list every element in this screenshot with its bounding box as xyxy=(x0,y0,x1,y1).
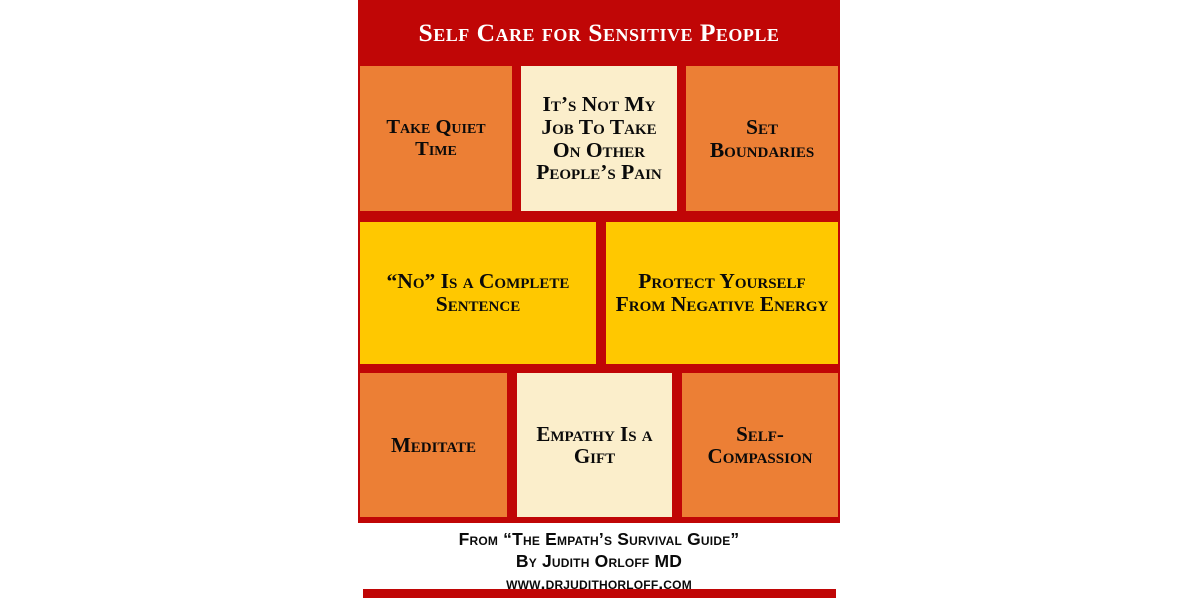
page-title: Self Care for Sensitive People xyxy=(419,20,780,46)
tip-card-self-compassion: Self-Compassion xyxy=(682,373,838,517)
footer-source-line: From “The Empath’s Survival Guide” xyxy=(459,528,740,550)
infographic-poster: Self Care for Sensitive People Take Quie… xyxy=(358,0,840,523)
tip-row-2: “No” Is a Complete Sentence Protect Your… xyxy=(358,222,840,364)
poster-canvas: Self Care for Sensitive People Take Quie… xyxy=(0,0,1200,600)
tip-card-not-my-job: It’s Not My Job To Take On Other People’… xyxy=(521,66,677,211)
row-divider-2 xyxy=(358,364,840,373)
tip-card-meditate: Meditate xyxy=(360,373,507,517)
tip-card-empathy-is-a-gift: Empathy Is a Gift xyxy=(517,373,672,517)
tip-card-set-boundaries: Set Boundaries xyxy=(686,66,838,211)
row-divider-1 xyxy=(358,211,840,222)
poster-title-bar: Self Care for Sensitive People xyxy=(358,0,840,66)
footer-author-line: By Judith Orloff MD xyxy=(516,550,682,572)
tip-row-1: Take Quiet Time It’s Not My Job To Take … xyxy=(358,66,840,211)
tip-row-3: Meditate Empathy Is a Gift Self-Compassi… xyxy=(358,373,840,517)
tip-card-take-quiet-time: Take Quiet Time xyxy=(360,66,512,211)
tip-card-protect-yourself: Protect Yourself From Negative Energy xyxy=(606,222,838,364)
tip-card-no-complete-sentence: “No” Is a Complete Sentence xyxy=(360,222,596,364)
footer-accent-bar xyxy=(363,589,836,598)
